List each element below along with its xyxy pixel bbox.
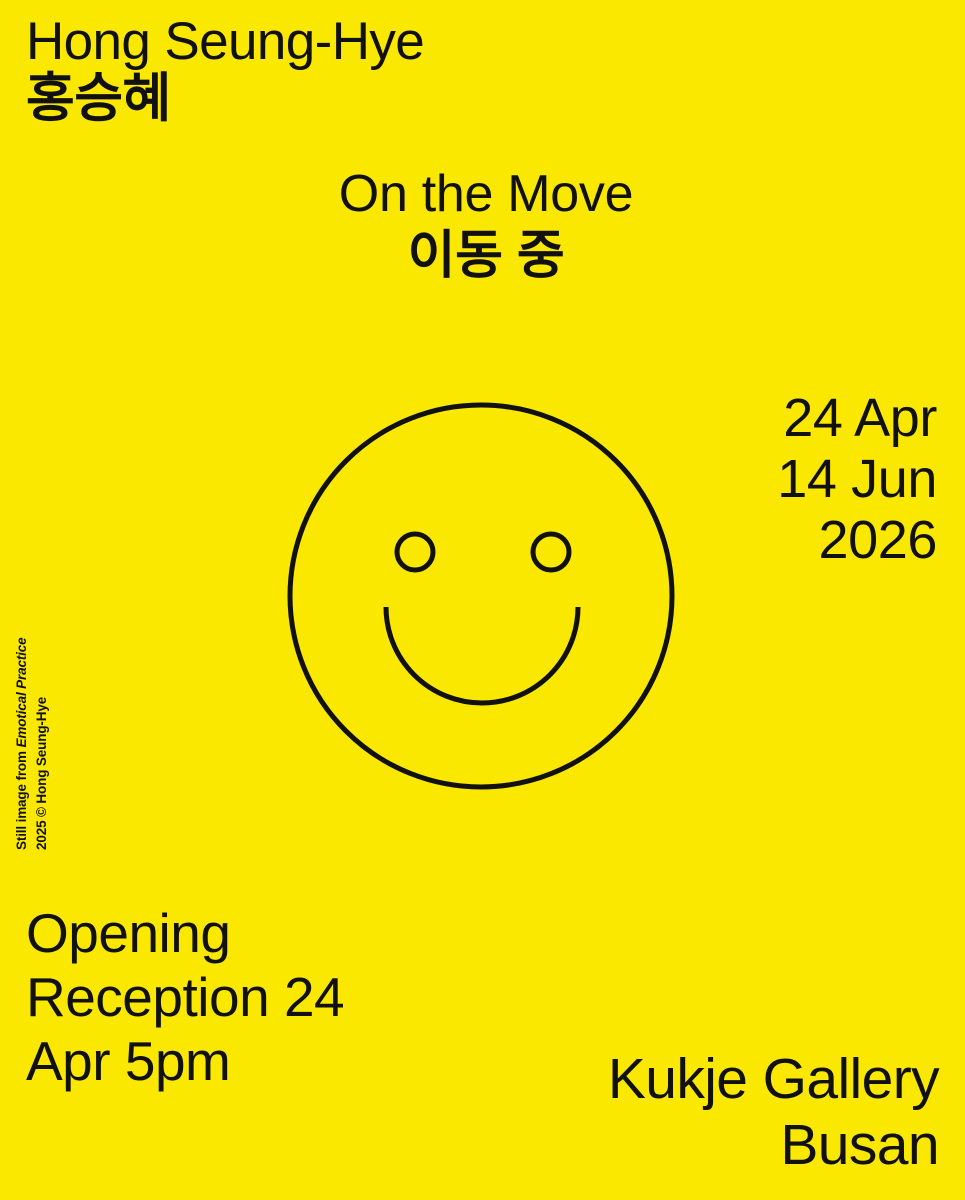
artist-name-korean: 홍승혜 — [26, 71, 424, 126]
opening-reception-line-2: Reception 24 — [26, 966, 344, 1030]
artist-name-english: Hong Seung-Hye — [26, 14, 424, 69]
exhibition-title-block: On the Move 이동 중 — [306, 166, 666, 284]
venue-name: Kukje Gallery — [608, 1046, 939, 1112]
opening-reception-line-1: Opening — [26, 902, 344, 966]
smiley-right-eye-icon — [533, 534, 569, 570]
smiley-face-outline-icon — [290, 405, 672, 787]
date-start: 24 Apr — [777, 388, 937, 449]
venue-block: Kukje Gallery Busan — [608, 1046, 939, 1178]
venue-city: Busan — [608, 1112, 939, 1178]
date-year: 2026 — [777, 510, 937, 571]
image-credit-prefix: Still image from — [14, 748, 29, 850]
smiley-face-artwork — [280, 395, 682, 797]
image-credit-work-title: Emotical Practice — [14, 638, 29, 748]
exhibition-dates-block: 24 Apr 14 Jun 2026 — [777, 388, 937, 571]
image-credit-block: Still image from Emotical Practice 2025 … — [12, 560, 70, 850]
exhibition-poster: Hong Seung-Hye 홍승혜 On the Move 이동 중 24 A… — [0, 0, 965, 1200]
smiley-left-eye-icon — [397, 534, 433, 570]
opening-reception-block: Opening Reception 24 Apr 5pm — [26, 902, 344, 1093]
opening-reception-line-3: Apr 5pm — [26, 1030, 344, 1094]
exhibition-title-english: On the Move — [306, 166, 666, 222]
image-credit-line-1: Still image from Emotical Practice — [12, 560, 32, 850]
artist-name-block: Hong Seung-Hye 홍승혜 — [26, 14, 424, 126]
image-credit-line-2: 2025 © Hong Seung-Hye — [32, 560, 52, 850]
date-end: 14 Jun — [777, 449, 937, 510]
smiley-mouth-icon — [386, 607, 578, 703]
exhibition-title-korean: 이동 중 — [306, 228, 666, 284]
